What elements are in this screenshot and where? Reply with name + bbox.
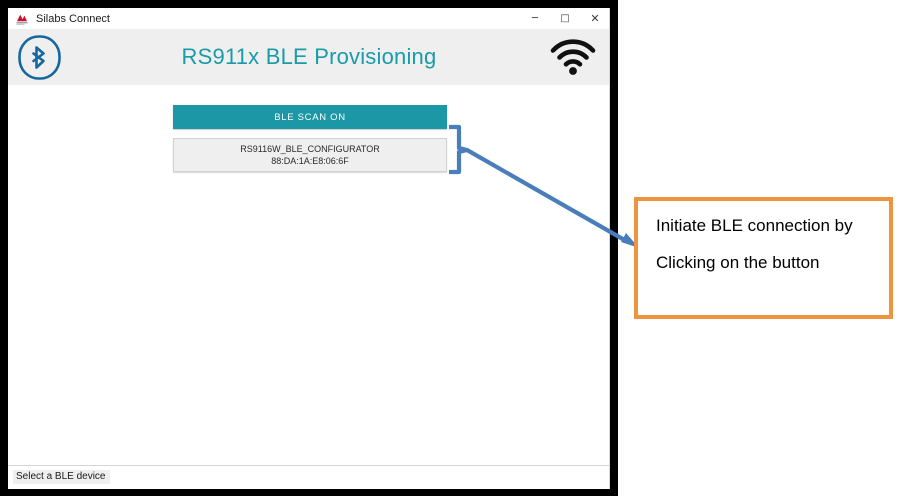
main-content: BLE SCAN ON RS9116W_BLE_CONFIGURATOR 88:…: [8, 85, 610, 465]
annotation-callout-box: Initiate BLE connection by Clicking on t…: [634, 197, 893, 319]
maximize-button[interactable]: □: [550, 8, 580, 29]
wifi-icon: [550, 38, 596, 76]
annotation-line-2: Clicking on the button: [656, 252, 873, 273]
silabs-logo-svg: [15, 12, 29, 26]
wifi-icon-svg: [550, 38, 596, 76]
page-title: RS911x BLE Provisioning: [8, 29, 610, 85]
screenshot-window-frame: Silabs Connect ─ □ ✕ RS911x BLE Provisio…: [0, 0, 618, 496]
device-mac-address: 88:DA:1A:E8:06:6F: [174, 155, 446, 167]
silabs-logo-icon: [15, 12, 29, 26]
app-header: RS911x BLE Provisioning: [8, 29, 610, 85]
ble-device-list: RS9116W_BLE_CONFIGURATOR 88:DA:1A:E8:06:…: [173, 138, 447, 172]
status-message: Select a BLE device: [13, 470, 110, 484]
window-title: Silabs Connect: [36, 13, 110, 25]
close-button[interactable]: ✕: [580, 8, 610, 29]
ble-scan-toggle-button[interactable]: BLE SCAN ON: [173, 105, 447, 129]
minimize-button[interactable]: ─: [520, 8, 550, 29]
status-bar: Select a BLE device: [8, 465, 610, 489]
app-window: Silabs Connect ─ □ ✕ RS911x BLE Provisio…: [8, 8, 610, 489]
annotation-line-1: Initiate BLE connection by: [656, 215, 873, 236]
device-name: RS9116W_BLE_CONFIGURATOR: [174, 143, 446, 155]
window-controls: ─ □ ✕: [520, 8, 610, 29]
ble-device-list-item[interactable]: RS9116W_BLE_CONFIGURATOR 88:DA:1A:E8:06:…: [174, 139, 446, 171]
title-bar: Silabs Connect ─ □ ✕: [8, 8, 610, 30]
